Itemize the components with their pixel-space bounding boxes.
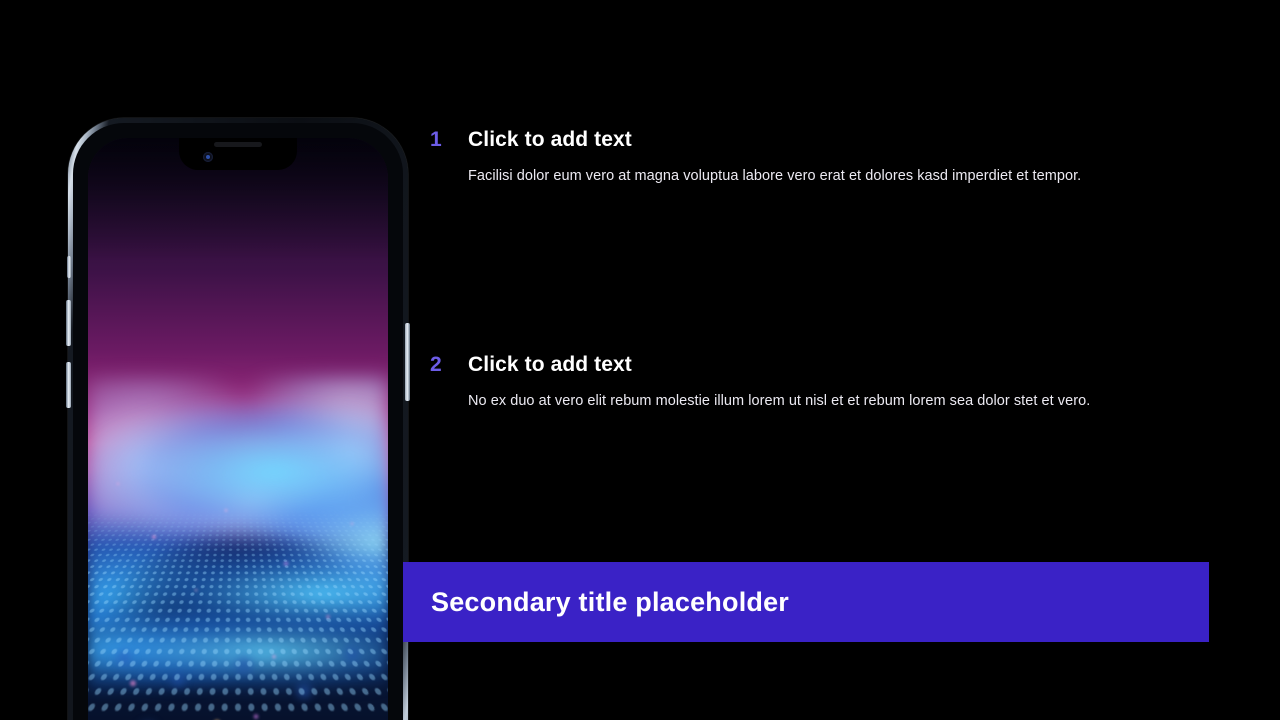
content-block-1-number: 1 (430, 128, 468, 152)
content-block-2-header: 2 Click to add text (430, 353, 1220, 377)
content-block-1-body[interactable]: Facilisi dolor eum vero at magna voluptu… (468, 167, 1220, 187)
content-block-2-body[interactable]: No ex duo at vero elit rebum molestie il… (468, 392, 1220, 412)
earpiece-speaker-icon (214, 142, 262, 147)
secondary-title-text[interactable]: Secondary title placeholder (431, 587, 789, 618)
slide-canvas: 1 Click to add text Facilisi dolor eum v… (0, 0, 1280, 720)
content-block-2: 2 Click to add text No ex duo at vero el… (430, 353, 1220, 412)
volume-down-button[interactable] (66, 362, 71, 408)
content-block-1: 1 Click to add text Facilisi dolor eum v… (430, 128, 1220, 187)
phone-mockup[interactable] (68, 118, 408, 720)
phone-screen (88, 138, 388, 720)
content-block-1-header: 1 Click to add text (430, 128, 1220, 152)
content-block-2-title[interactable]: Click to add text (468, 353, 632, 377)
mute-switch-button[interactable] (67, 256, 71, 278)
volume-up-button[interactable] (66, 300, 71, 346)
content-block-2-number: 2 (430, 353, 468, 377)
power-button[interactable] (405, 323, 410, 401)
phone-notch (179, 138, 297, 170)
secondary-title-bar[interactable]: Secondary title placeholder (403, 562, 1209, 642)
content-block-1-title[interactable]: Click to add text (468, 128, 632, 152)
front-camera-icon (203, 152, 213, 162)
